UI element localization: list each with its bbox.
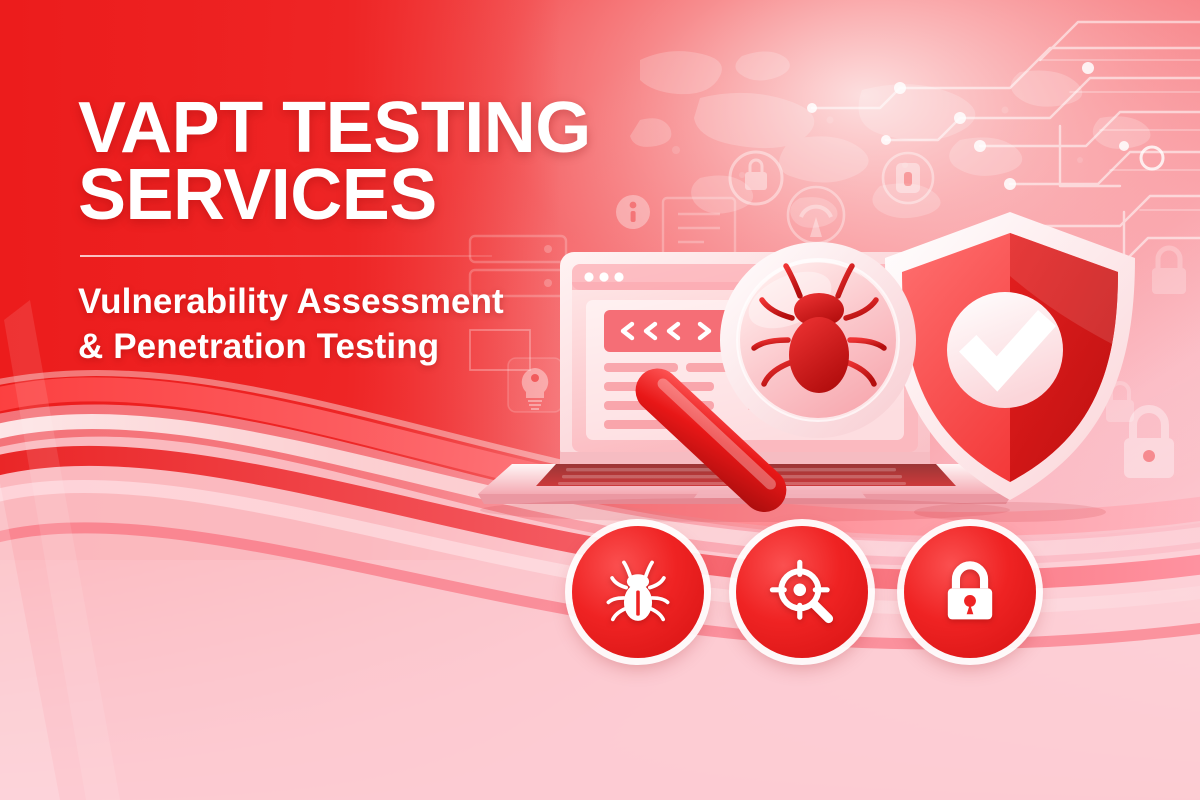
subtitle: Vulnerability Assessment & Penetration T… xyxy=(78,279,698,370)
bug-badge[interactable] xyxy=(572,526,704,658)
subtitle-line-1: Vulnerability Assessment xyxy=(78,282,504,321)
page-title: VAPT TESTING SERVICES xyxy=(78,95,698,229)
title-divider xyxy=(80,255,492,257)
bug-icon xyxy=(601,555,675,629)
subtitle-line-2: & Penetration Testing xyxy=(78,324,698,370)
feature-badge-row xyxy=(560,520,1060,680)
headline-block: VAPT TESTING SERVICES Vulnerability Asse… xyxy=(78,95,698,370)
lock-badge[interactable] xyxy=(904,526,1036,658)
headline-line-2: SERVICES xyxy=(78,162,698,229)
vapt-banner: VAPT TESTING SERVICES Vulnerability Asse… xyxy=(0,0,1200,800)
scan-badge[interactable] xyxy=(736,526,868,658)
target-scan-icon xyxy=(765,555,839,629)
padlock-icon xyxy=(933,555,1007,629)
